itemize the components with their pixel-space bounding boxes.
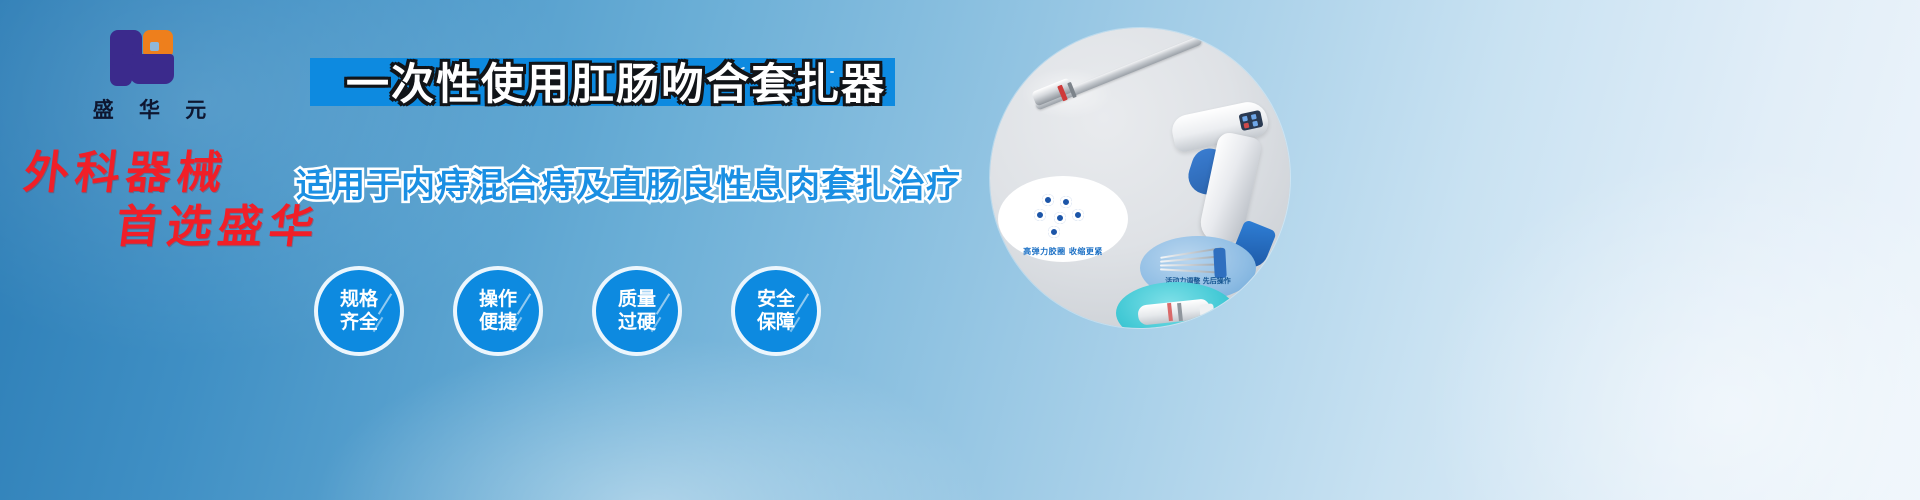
brand-name: 盛 华 元 [62,94,237,124]
badge-line-1: 规格 [340,288,378,311]
slash-accent-icon [656,293,670,314]
headline-title: 一次性使用肛肠吻合套扎器 [316,50,916,112]
background-glow-right [1420,150,1920,500]
slash-accent-icon [378,293,392,314]
feature-badge[interactable]: 质量 过硬 [592,266,682,356]
product-photo: 高弹力胶圈 收缩更紧 活动力调整 先后操作 [990,28,1290,328]
promo-banner: 盛 华 元 外科器械 首选盛华 一次性使用肛肠吻合套扎器 适用于内痔混合痔及直肠… [0,0,1920,500]
slash-accent-icon [795,293,809,314]
feature-badge[interactable]: 安全 保障 [731,266,821,356]
badge-line-1: 质量 [618,288,656,311]
slash-accent-icon [517,293,531,314]
feature-badge[interactable]: 操作 便捷 [453,266,543,356]
calligraphy-line-2: 首选盛华 [113,202,351,252]
badge-line-1: 安全 [757,288,795,311]
brand-logo[interactable]: 盛 华 元 [62,24,237,124]
caption-rubber-rings: 高弹力胶圈 收缩更紧 [1004,246,1122,257]
badge-line-1: 操作 [479,288,517,311]
logo-mark-icon [102,24,198,86]
feature-badges: 规格 齐全 操作 便捷 质量 过硬 安全 保障 [310,266,870,366]
feature-badge[interactable]: 规格 齐全 [314,266,404,356]
subtitle-text: 适用于内痔混合痔及直肠良性息肉套扎治疗 [296,158,916,207]
